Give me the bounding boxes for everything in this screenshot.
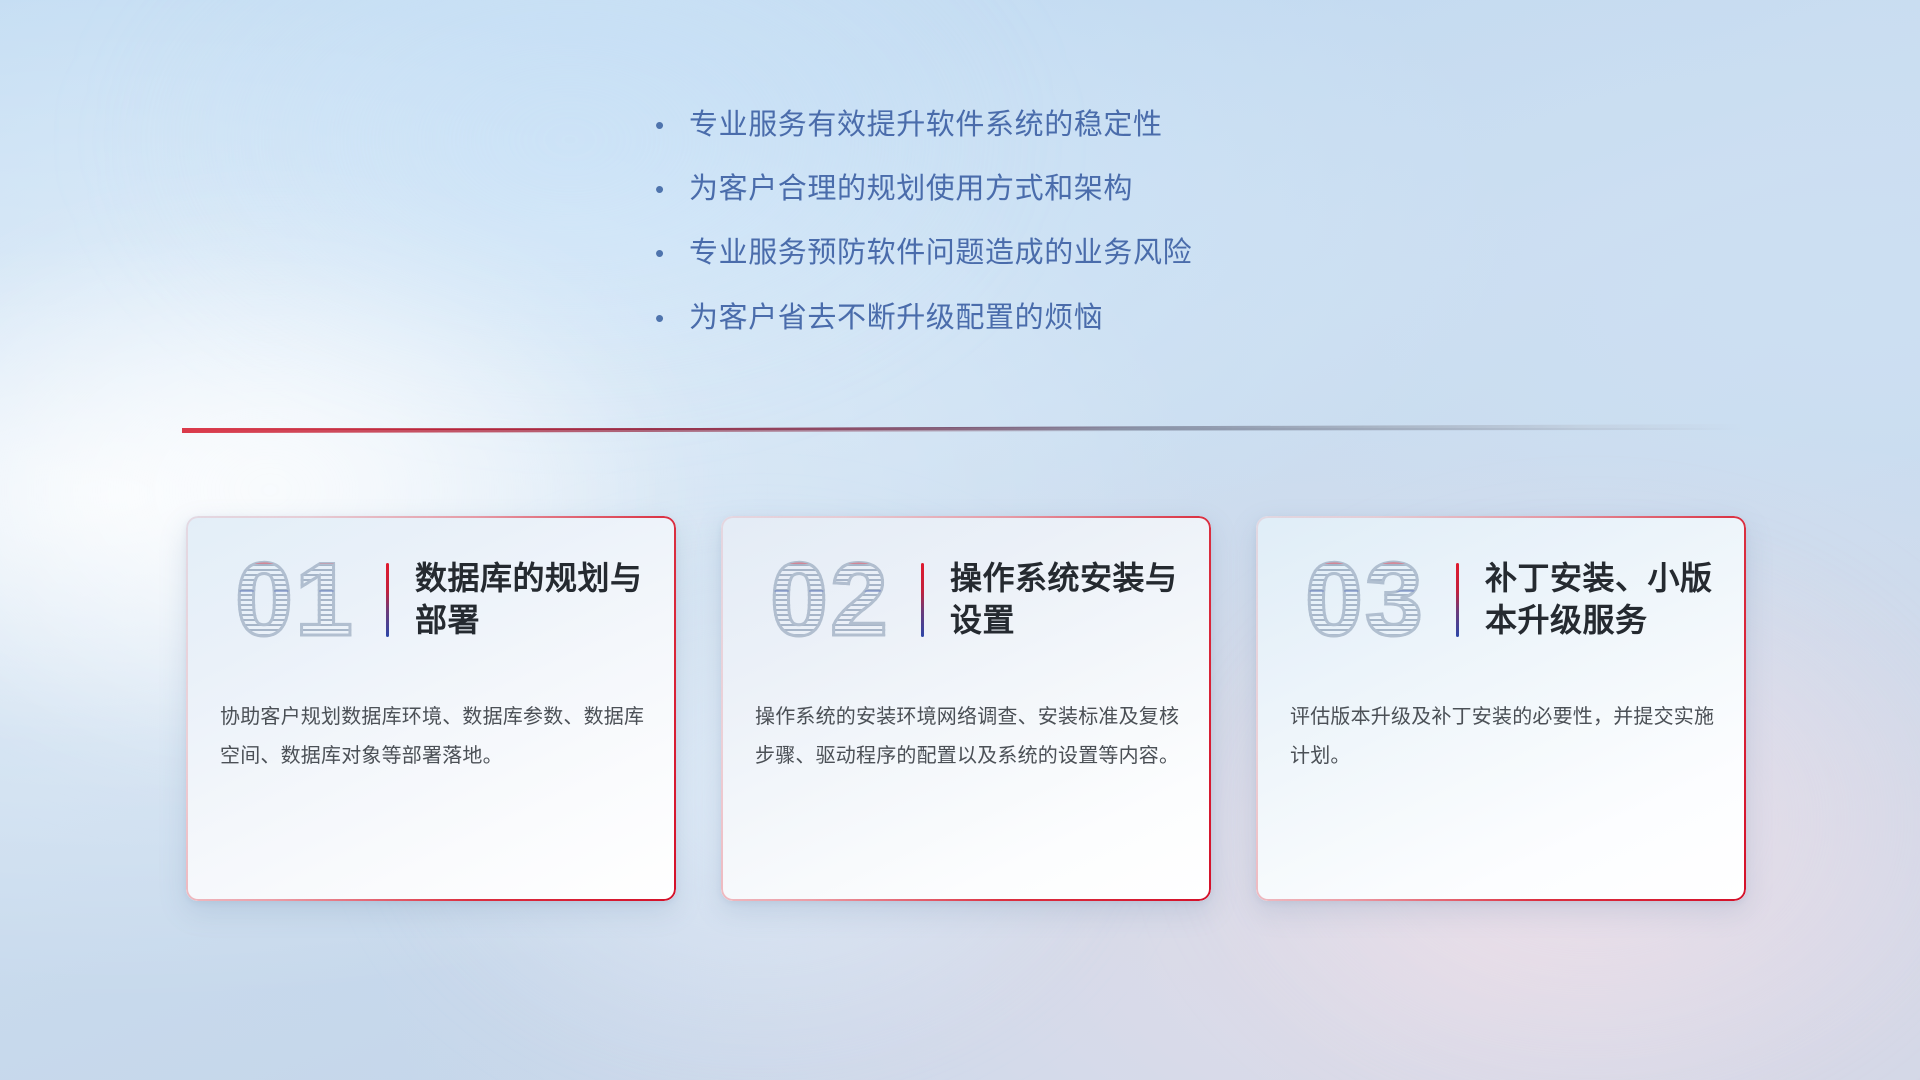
card-title: 数据库的规划与部署 <box>415 558 676 641</box>
card-number-watermark: 0202 <box>745 544 915 656</box>
service-card-row: 0101 数据库的规划与部署 协助客户规划数据库环境、数据库参数、数据库空间、数… <box>186 516 1746 906</box>
card-header: 0303 补丁安装、小版本升级服务 <box>1256 540 1746 660</box>
bullet-text: 为客户合理的规划使用方式和架构 <box>689 172 1133 206</box>
card-title: 操作系统安装与设置 <box>950 558 1211 641</box>
bullet-text: 专业服务预防软件问题造成的业务风险 <box>689 236 1192 270</box>
list-item: • 专业服务预防软件问题造成的业务风险 <box>655 236 1415 270</box>
bullet-marker-icon: • <box>655 176 689 202</box>
card-divider-bar <box>1456 563 1459 637</box>
bullet-text: 专业服务有效提升软件系统的稳定性 <box>689 108 1163 142</box>
card-number-tint: 01 <box>210 544 380 656</box>
card-divider-bar <box>921 563 924 637</box>
service-card[interactable]: 0202 操作系统安装与设置 操作系统的安装环境网络调查、安装标准及复核步骤、驱… <box>721 516 1211 901</box>
card-number-tint: 03 <box>1280 544 1450 656</box>
bullet-text: 为客户省去不断升级配置的烦恼 <box>689 301 1103 335</box>
card-number-tint: 02 <box>745 544 915 656</box>
slide-canvas: • 专业服务有效提升软件系统的稳定性 • 为客户合理的规划使用方式和架构 • 专… <box>0 0 1920 1080</box>
divider-line-bottom <box>182 428 1742 433</box>
card-body-text: 操作系统的安装环境网络调查、安装标准及复核步骤、驱动程序的配置以及系统的设置等内… <box>755 698 1181 776</box>
card-body-text: 协助客户规划数据库环境、数据库参数、数据库空间、数据库对象等部署落地。 <box>220 698 646 776</box>
card-header: 0202 操作系统安装与设置 <box>721 540 1211 660</box>
card-divider-bar <box>386 563 389 637</box>
card-body-text: 评估版本升级及补丁安装的必要性，并提交实施计划。 <box>1290 698 1716 776</box>
bullet-marker-icon: • <box>655 112 689 138</box>
list-item: • 为客户省去不断升级配置的烦恼 <box>655 301 1415 335</box>
card-number-watermark: 0101 <box>210 544 380 656</box>
service-card[interactable]: 0303 补丁安装、小版本升级服务 评估版本升级及补丁安装的必要性，并提交实施计… <box>1256 516 1746 901</box>
bullet-marker-icon: • <box>655 240 689 266</box>
card-title: 补丁安装、小版本升级服务 <box>1485 558 1746 641</box>
benefits-bullet-list: • 专业服务有效提升软件系统的稳定性 • 为客户合理的规划使用方式和架构 • 专… <box>655 108 1415 365</box>
list-item: • 为客户合理的规划使用方式和架构 <box>655 172 1415 206</box>
service-card[interactable]: 0101 数据库的规划与部署 协助客户规划数据库环境、数据库参数、数据库空间、数… <box>186 516 676 901</box>
list-item: • 专业服务有效提升软件系统的稳定性 <box>655 108 1415 142</box>
section-divider <box>182 424 1742 436</box>
card-header: 0101 数据库的规划与部署 <box>186 540 676 660</box>
card-number-watermark: 0303 <box>1280 544 1450 656</box>
bullet-marker-icon: • <box>655 305 689 331</box>
